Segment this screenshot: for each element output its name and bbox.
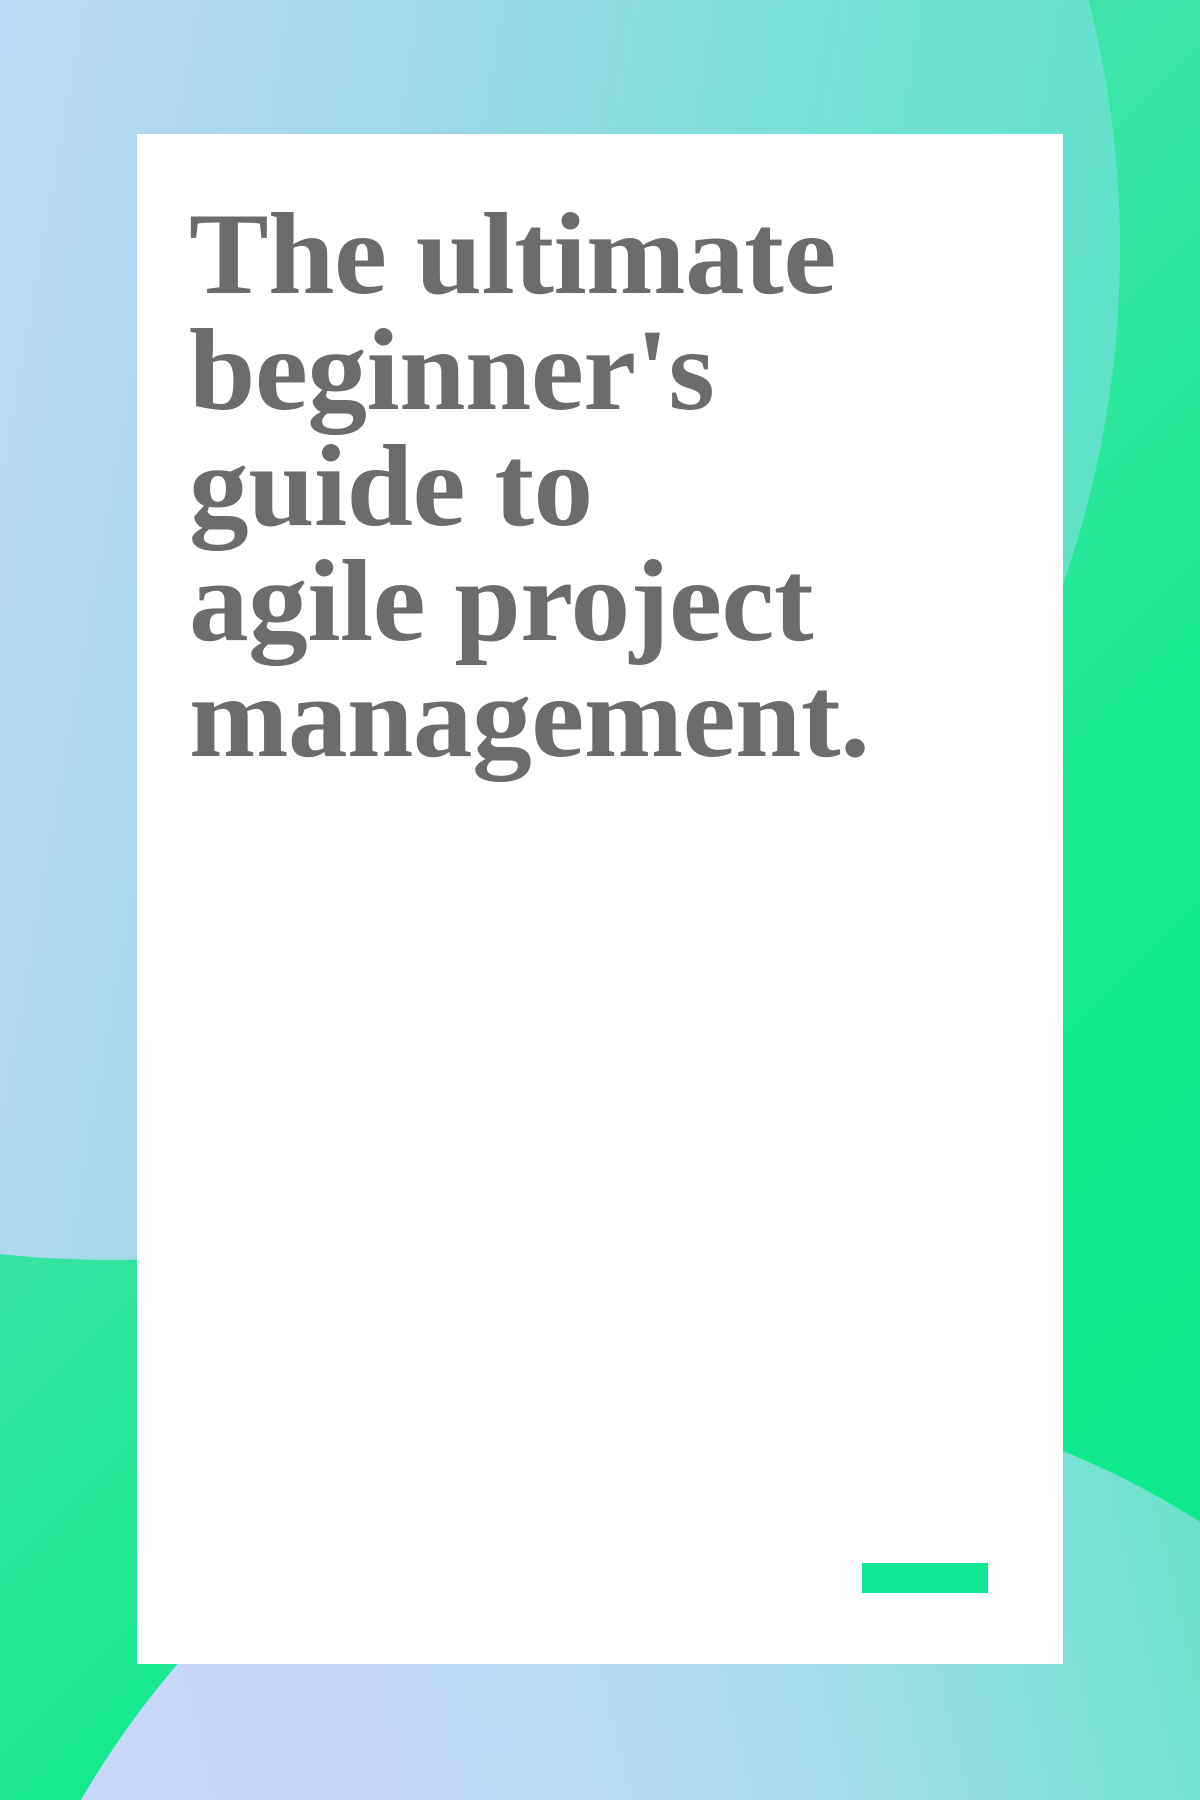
page-title: The ultimate beginner's guide to agile p… [189, 197, 1005, 776]
white-card: The ultimate beginner's guide to agile p… [137, 134, 1063, 1664]
accent-bar [862, 1563, 988, 1593]
poster-canvas: The ultimate beginner's guide to agile p… [0, 0, 1200, 1800]
